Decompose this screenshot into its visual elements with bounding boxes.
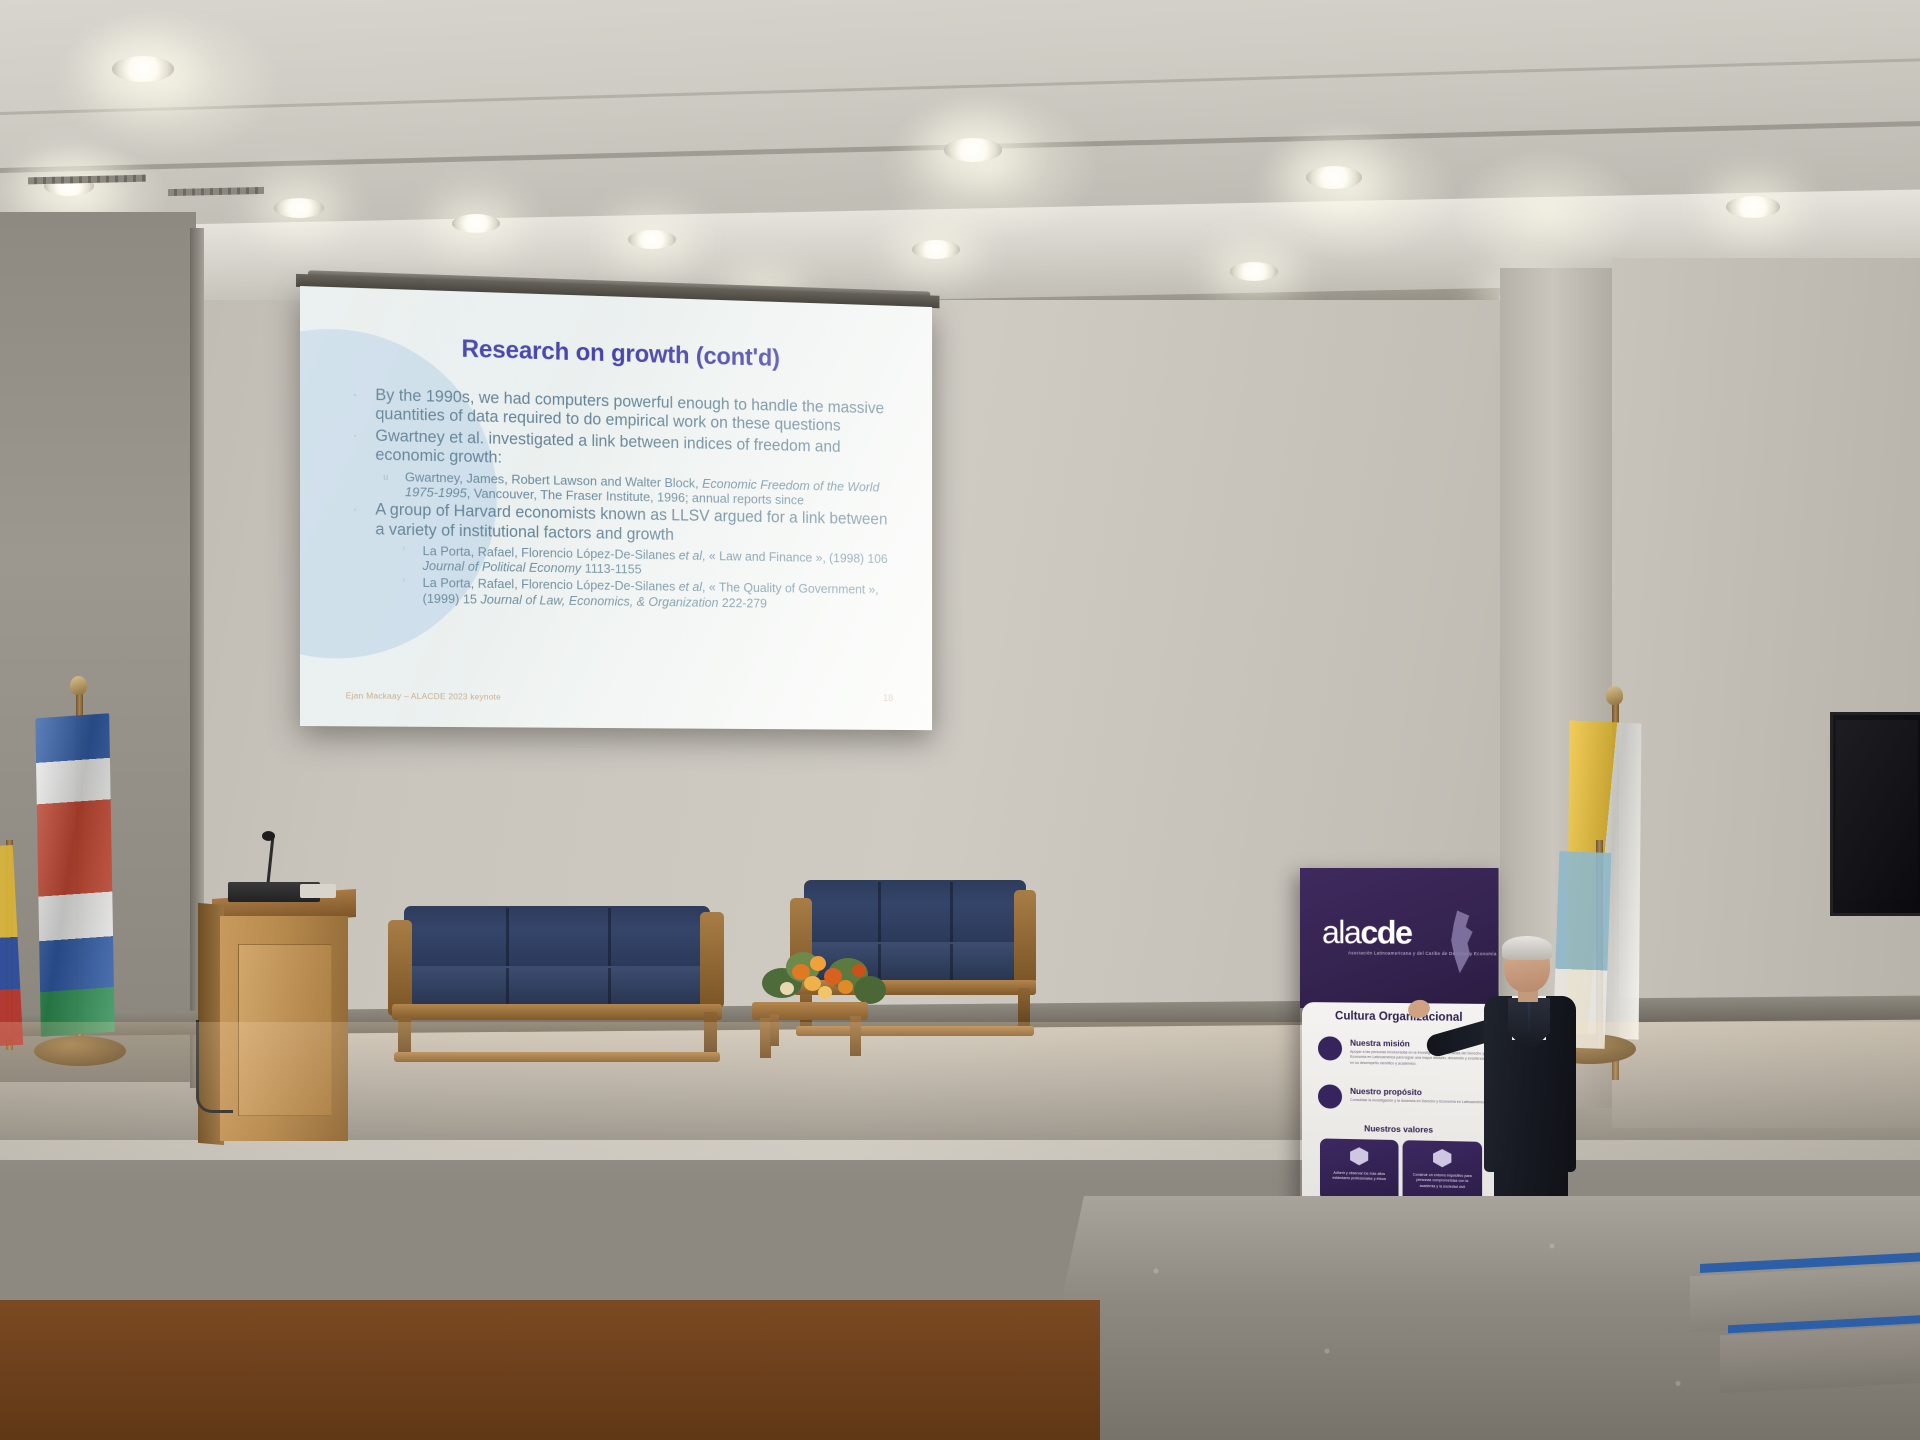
downlight-icon [112,56,174,82]
value-card-text: Adherir y observar los más altos estánda… [1326,1171,1392,1183]
speaker-hair [1502,936,1552,960]
auditorium-scene: Research on growth (cont'd) ▫ By the 199… [0,0,1920,1440]
floor-reflection [0,1022,1920,1182]
downlight-icon [452,214,500,233]
bullet-marker-icon: u [383,471,388,482]
downlight-icon [1230,262,1278,281]
people-icon [1433,1149,1451,1168]
downlight-icon [912,240,960,259]
slide-footer: Ejan Mackaay – ALACDE 2023 keynote [346,690,501,701]
downlight-icon [1306,166,1362,189]
flagpole-finial [1606,686,1623,705]
front-floor [0,1300,1100,1440]
downlight-icon [944,138,1002,162]
microphone-icon [262,831,275,841]
stage-step [1720,1324,1920,1393]
rocket-icon [1318,1084,1342,1108]
bullet-text: By the 1990s, we had computers powerful … [375,386,884,435]
screen-frame: Research on growth (cont'd) ▫ By the 199… [300,286,932,730]
wall-monitor-screen [1836,720,1918,900]
costa-rica-flag-fold [35,713,114,1037]
bullet-marker-icon: ᶠ [403,578,405,587]
citation-laporta-1998: La Porta, Rafael, Florencio López-De-Sil… [423,543,888,577]
downlight-icon [628,230,676,249]
bullet-marker-icon: ▫ [354,432,357,441]
projection-screen: Research on growth (cont'd) ▫ By the 199… [300,286,932,730]
target-icon [1318,1036,1342,1060]
downlight-icon [274,198,324,218]
banner-item-title: Nuestro propósito [1350,1087,1422,1097]
bullet-level3: ᶠ La Porta, Rafael, Florencio López-De-S… [348,574,895,612]
bullet-marker-icon: ▫ [354,505,357,514]
logo-bold-part: cde [1360,914,1411,950]
downlight-icon [1726,196,1780,218]
alacde-logo: alacde [1322,916,1412,949]
slide-body: ▫ By the 1990s, we had computers powerfu… [348,385,895,614]
bullet-marker-icon: ▫ [354,390,357,399]
logo-light-part: ala [1322,914,1360,950]
banner-item-title: Nuestra misión [1350,1039,1410,1049]
podium-equipment [300,884,336,898]
value-card-1: Adherir y observar los más altos estánda… [1320,1138,1399,1202]
flagpole-finial [70,676,87,695]
shield-icon [1350,1147,1368,1165]
bullet-marker-icon: ᶠ [403,545,405,554]
slide-page-number: 18 [883,693,893,704]
slide: Research on growth (cont'd) ▫ By the 199… [300,286,932,730]
citation-laporta-1999: La Porta, Rafael, Florencio López-De-Sil… [423,575,879,610]
